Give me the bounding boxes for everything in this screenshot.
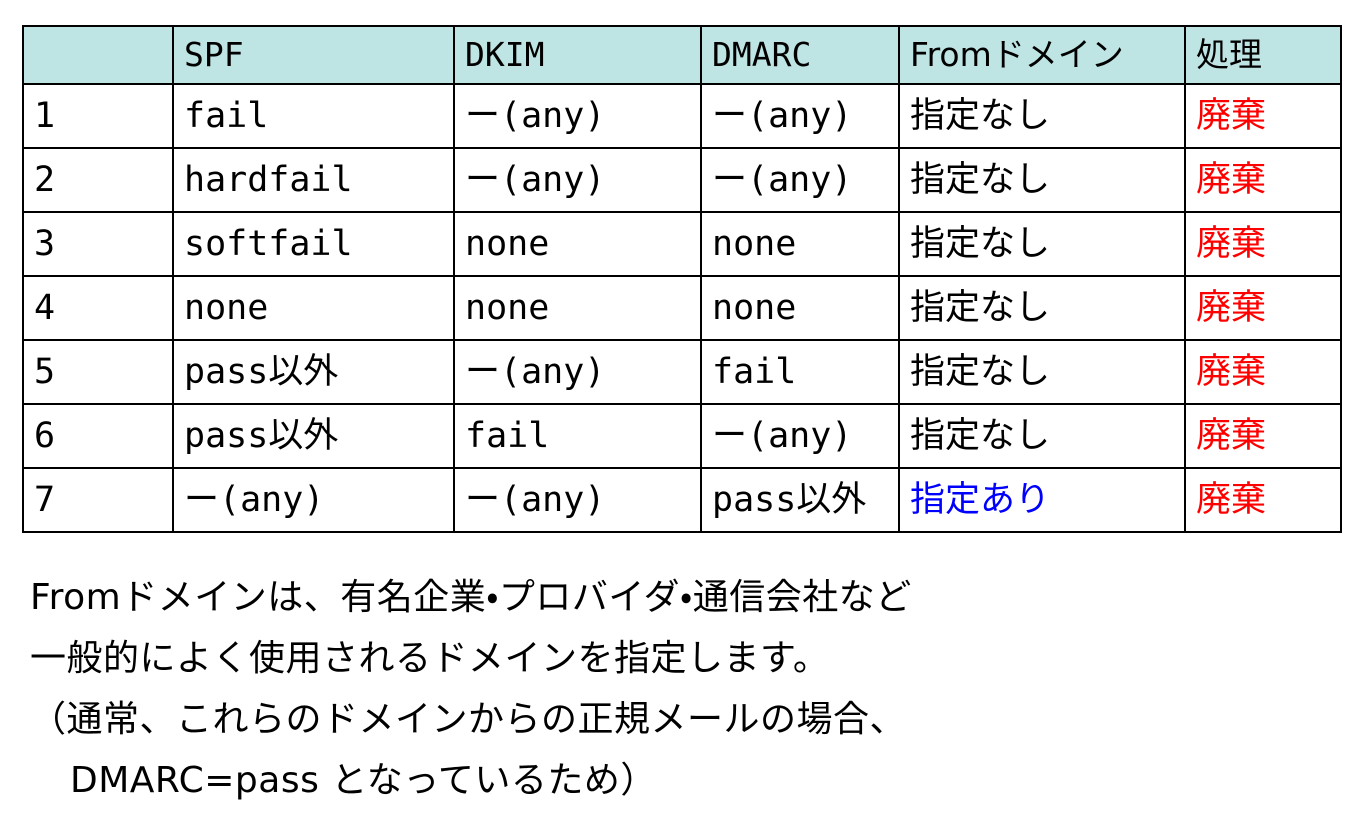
column-header-spf: SPF (173, 26, 454, 84)
caption-block: Fromドメインは、有名企業・プロバイダ・通信会社など 一般的によく使用されるド… (30, 567, 1330, 811)
cell-dmarc: none (701, 276, 899, 340)
cell-dkim: none (454, 212, 701, 276)
cell-action: 廃棄 (1185, 276, 1341, 340)
cell-dkim: ー(any) (454, 84, 701, 148)
cell-from-domain: 指定なし (899, 84, 1185, 148)
cell-from-domain: 指定なし (899, 340, 1185, 404)
cell-from-domain: 指定あり (899, 468, 1185, 532)
cell-dmarc: ー(any) (701, 148, 899, 212)
column-header-no (23, 26, 173, 84)
table-row: 2hardfailー(any)ー(any)指定なし廃棄 (23, 148, 1341, 212)
caption-line-2: 一般的によく使用されるドメインを指定します。 (30, 628, 1330, 689)
cell-spf: ー(any) (173, 468, 454, 532)
cell-action: 廃棄 (1185, 84, 1341, 148)
cell-from-domain: 指定なし (899, 404, 1185, 468)
cell-row-number: 3 (23, 212, 173, 276)
cell-dmarc: none (701, 212, 899, 276)
cell-row-number: 6 (23, 404, 173, 468)
cell-dmarc: pass以外 (701, 468, 899, 532)
rules-table-container: SPF DKIM DMARC Fromドメイン 処理 1failー(any)ー(… (22, 25, 1340, 533)
cell-action: 廃棄 (1185, 468, 1341, 532)
column-header-from-domain: Fromドメイン (899, 26, 1185, 84)
table-row: 1failー(any)ー(any)指定なし廃棄 (23, 84, 1341, 148)
cell-spf: pass以外 (173, 340, 454, 404)
cell-action: 廃棄 (1185, 340, 1341, 404)
caption-line-3: （通常、これらのドメインからの正規メールの場合、 (30, 689, 1330, 750)
cell-row-number: 5 (23, 340, 173, 404)
spf-dkim-dmarc-rules-table: SPF DKIM DMARC Fromドメイン 処理 1failー(any)ー(… (22, 25, 1342, 533)
cell-spf: softfail (173, 212, 454, 276)
cell-dkim: none (454, 276, 701, 340)
cell-row-number: 7 (23, 468, 173, 532)
slide-canvas: SPF DKIM DMARC Fromドメイン 処理 1failー(any)ー(… (0, 0, 1359, 822)
cell-spf: none (173, 276, 454, 340)
cell-dkim: ー(any) (454, 468, 701, 532)
column-header-action: 処理 (1185, 26, 1341, 84)
cell-spf: hardfail (173, 148, 454, 212)
cell-from-domain: 指定なし (899, 148, 1185, 212)
cell-from-domain: 指定なし (899, 212, 1185, 276)
table-header-row: SPF DKIM DMARC Fromドメイン 処理 (23, 26, 1341, 84)
cell-action: 廃棄 (1185, 148, 1341, 212)
column-header-dkim: DKIM (454, 26, 701, 84)
table-body: 1failー(any)ー(any)指定なし廃棄2hardfailー(any)ー(… (23, 84, 1341, 532)
caption-line-1: Fromドメインは、有名企業・プロバイダ・通信会社など (30, 567, 1330, 628)
cell-row-number: 1 (23, 84, 173, 148)
table-row: 6pass以外failー(any)指定なし廃棄 (23, 404, 1341, 468)
cell-dkim: fail (454, 404, 701, 468)
table-header: SPF DKIM DMARC Fromドメイン 処理 (23, 26, 1341, 84)
table-row: 5pass以外ー(any)fail指定なし廃棄 (23, 340, 1341, 404)
column-header-dmarc: DMARC (701, 26, 899, 84)
caption-line-4: DMARC=pass となっているため） (30, 750, 1330, 811)
cell-row-number: 2 (23, 148, 173, 212)
cell-dmarc: ー(any) (701, 84, 899, 148)
cell-spf: pass以外 (173, 404, 454, 468)
table-row: 7ー(any)ー(any)pass以外指定あり廃棄 (23, 468, 1341, 532)
table-row: 4nonenonenone指定なし廃棄 (23, 276, 1341, 340)
cell-dmarc: fail (701, 340, 899, 404)
cell-from-domain: 指定なし (899, 276, 1185, 340)
cell-action: 廃棄 (1185, 212, 1341, 276)
cell-dkim: ー(any) (454, 148, 701, 212)
cell-dmarc: ー(any) (701, 404, 899, 468)
table-row: 3softfailnonenone指定なし廃棄 (23, 212, 1341, 276)
cell-spf: fail (173, 84, 454, 148)
cell-action: 廃棄 (1185, 404, 1341, 468)
cell-row-number: 4 (23, 276, 173, 340)
cell-dkim: ー(any) (454, 340, 701, 404)
